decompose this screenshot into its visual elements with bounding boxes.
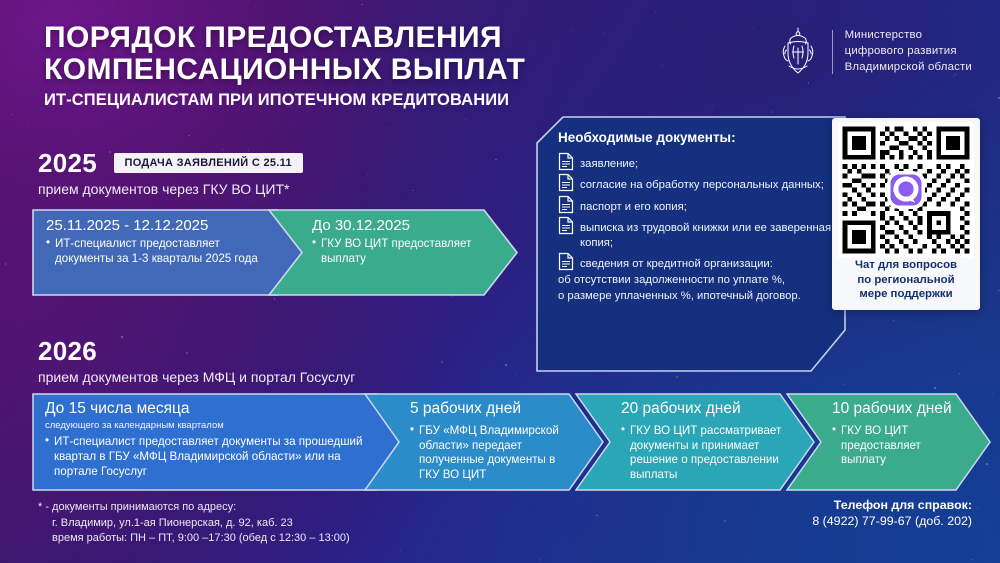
title-subtitle: ИТ-СПЕЦИАЛИСТАМ ПРИ ИПОТЕЧНОМ КРЕДИТОВАН… <box>44 91 525 110</box>
step-2026-2-bullets: ГБУ «МФЦ Владимирской области» передает … <box>410 424 570 483</box>
logo-text-line-2: цифрового развития <box>845 44 972 60</box>
step-2026-3: 20 рабочих дней ГКУ ВО ЦИТ рассматривает… <box>575 393 815 491</box>
step-2026-1-bullets: ИТ-специалист предоставляет документы за… <box>45 435 375 479</box>
step-2026-1: До 15 числа месяца следующего за календа… <box>32 393 412 491</box>
year-2026-subtitle: прием документов через МФЦ и портал Госу… <box>38 369 355 385</box>
step-2026-3-bullet-0: ГКУ ВО ЦИТ рассматривает документы и при… <box>621 424 789 483</box>
logo-divider <box>832 30 833 74</box>
footer-note-line-3: время работы: ПН – ПТ, 9:00 –17:30 (обед… <box>38 531 350 547</box>
step-2025-2: До 30.12.2025 ГКУ ВО ЦИТ предоставляет в… <box>268 209 518 296</box>
title-line-1: ПОРЯДОК ПРЕДОСТАВЛЕНИЯ <box>44 22 525 54</box>
phone-value[interactable]: 8 (4922) 77-99-67 (доб. 202) <box>812 514 972 528</box>
document-item-label: заявление; <box>580 151 638 171</box>
step-2026-4-title: 10 рабочих дней <box>832 400 962 418</box>
document-item: паспорт и его копия; <box>558 194 834 214</box>
application-start-badge: ПОДАЧА ЗАЯВЛЕНИЙ С 25.11 <box>114 153 303 173</box>
step-2026-4-bullets: ГКУ ВО ЦИТ предоставляет выплату <box>832 424 962 468</box>
coat-of-arms-icon <box>776 26 820 78</box>
step-2025-2-bullets: ГКУ ВО ЦИТ предоставляет выплату <box>312 237 492 267</box>
step-2025-1-bullets: ИТ-специалист предоставляет документы за… <box>46 237 276 267</box>
year-2026-heading: 2026 прием документов через МФЦ и портал… <box>38 336 355 385</box>
logo-text-line-3: Владимирской области <box>845 60 972 76</box>
step-2026-3-title: 20 рабочих дней <box>621 400 789 418</box>
logo-text-line-1: Министерство <box>845 28 972 44</box>
qr-caption-line-2: по региональной <box>832 273 980 288</box>
document-item: заявление; <box>558 151 834 171</box>
document-item-label: сведения от кредитной организации: <box>580 251 773 271</box>
step-2025-1-title: 25.11.2025 - 12.12.2025 <box>46 217 276 234</box>
year-2025-label: 2025 <box>38 148 97 178</box>
page-title: ПОРЯДОК ПРЕДОСТАВЛЕНИЯ КОМПЕНСАЦИОННЫХ В… <box>44 22 525 110</box>
step-2026-2: 5 рабочих дней ГБУ «МФЦ Владимирской обл… <box>364 393 604 491</box>
qr-caption-line-3: мере поддержки <box>832 287 980 302</box>
step-2026-1-note: следующего за календарным кварталом <box>45 421 375 431</box>
qr-code-icon[interactable] <box>838 122 974 258</box>
document-item-label: выписка из трудовой книжки или ее завере… <box>580 215 834 250</box>
step-2026-1-bullet-0: ИТ-специалист предоставляет документы за… <box>45 435 375 479</box>
document-icon <box>558 216 574 235</box>
logo-text: Министерство цифрового развития Владимир… <box>845 28 972 75</box>
step-2026-4: 10 рабочих дней ГКУ ВО ЦИТ предоставляет… <box>786 393 991 491</box>
document-continuation-line: о размере уплаченных %, ипотечный догово… <box>558 289 834 304</box>
document-item-label: согласие на обработку персональных данны… <box>580 172 824 192</box>
step-2025-2-bullet-0: ГКУ ВО ЦИТ предоставляет выплату <box>312 237 492 267</box>
document-icon <box>558 173 574 192</box>
document-continuation-line: об отсутствии задолженности по уплате %, <box>558 273 834 288</box>
contact-phone: Телефон для справок: 8 (4922) 77-99-67 (… <box>812 498 972 528</box>
qr-caption: Чат для вопросов по региональной мере по… <box>832 258 980 302</box>
step-2026-1-title: До 15 числа месяца <box>45 400 375 418</box>
year-2025-subtitle: прием документов через ГКУ ВО ЦИТ* <box>38 181 303 197</box>
ministry-logo: Министерство цифрового развития Владимир… <box>776 26 972 78</box>
step-2025-1-bullet-0: ИТ-специалист предоставляет документы за… <box>46 237 276 267</box>
qr-caption-line-1: Чат для вопросов <box>832 258 980 273</box>
year-2026-label: 2026 <box>38 336 97 366</box>
document-item-label: паспорт и его копия; <box>580 194 687 214</box>
step-2025-2-title: До 30.12.2025 <box>312 217 492 234</box>
document-icon <box>558 252 574 271</box>
document-item: сведения от кредитной организации: <box>558 251 834 271</box>
step-2026-4-bullet-0: ГКУ ВО ЦИТ предоставляет выплату <box>832 424 962 468</box>
required-documents-panel: Необходимые документы: заявление; соглас… <box>536 116 846 372</box>
document-icon <box>558 152 574 171</box>
title-line-2: КОМПЕНСАЦИОННЫХ ВЫПЛАТ <box>44 54 525 86</box>
document-icon <box>558 195 574 214</box>
phone-label: Телефон для справок: <box>812 498 972 512</box>
footer-note-line-2: г. Владимир, ул.1-ая Пионерская, д. 92, … <box>38 516 350 532</box>
documents-content: Необходимые документы: заявление; соглас… <box>558 130 834 306</box>
document-item: согласие на обработку персональных данны… <box>558 172 834 192</box>
step-2026-2-bullet-0: ГБУ «МФЦ Владимирской области» передает … <box>410 424 570 483</box>
footer-note: * - документы принимаются по адресу: г. … <box>38 500 350 547</box>
qr-code-card[interactable]: Чат для вопросов по региональной мере по… <box>832 118 980 310</box>
footer-note-line-1: * - документы принимаются по адресу: <box>38 500 350 516</box>
step-2026-2-title: 5 рабочих дней <box>410 400 570 418</box>
year-2025-heading: 2025 ПОДАЧА ЗАЯВЛЕНИЙ С 25.11 прием доку… <box>38 148 303 197</box>
infographic-poster: ПОРЯДОК ПРЕДОСТАВЛЕНИЯ КОМПЕНСАЦИОННЫХ В… <box>0 0 1000 563</box>
document-item: выписка из трудовой книжки или ее завере… <box>558 215 834 250</box>
documents-heading: Необходимые документы: <box>558 130 834 145</box>
step-2026-3-bullets: ГКУ ВО ЦИТ рассматривает документы и при… <box>621 424 789 483</box>
